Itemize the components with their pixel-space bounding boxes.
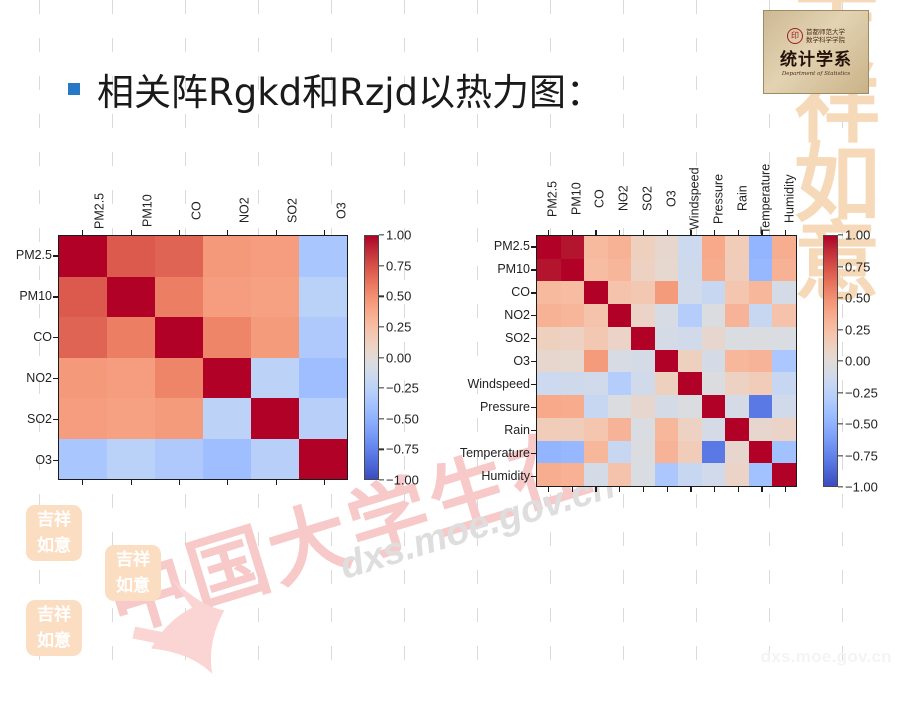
- x-tick-label: PM2.5: [536, 162, 560, 235]
- heatmap-cell: [608, 463, 632, 486]
- axis-tick: [227, 230, 228, 235]
- heatmap-cell: [772, 418, 796, 441]
- axis-tick: [531, 315, 536, 316]
- y-tick-label: PM10: [8, 276, 58, 317]
- colorbar-tick: [379, 357, 384, 358]
- colorbar-gradient: [823, 235, 838, 487]
- department-logo: 印 首都师范大学 数学科学学院 统计学系 Department of Stati…: [763, 10, 869, 94]
- colorbar: 1.000.750.500.250.00−0.25−0.50−0.75−1.00: [823, 235, 838, 487]
- heatmap-cell: [561, 395, 585, 418]
- heatmap-cell: [725, 327, 749, 350]
- heatmap-cell: [537, 259, 561, 282]
- heatmap-cell: [299, 398, 347, 439]
- heatmap-cell: [561, 304, 585, 327]
- heatmap-left-ticks: [53, 235, 58, 480]
- heatmap-cell: [561, 236, 585, 259]
- heatmap-cell: [749, 327, 773, 350]
- heatmap-cell: [155, 358, 203, 399]
- heatmap-cell: [107, 439, 155, 480]
- axis-tick: [548, 230, 549, 235]
- colorbar-tick: [838, 360, 843, 361]
- colorbar-tick-label: 0.50: [845, 291, 870, 306]
- heatmap-cell: [631, 327, 655, 350]
- heatmap-cell: [772, 259, 796, 282]
- colorbar-tick: [838, 455, 843, 456]
- heatmap-cell: [631, 350, 655, 373]
- heatmap-cell: [155, 398, 203, 439]
- heatmap-cell: [155, 236, 203, 277]
- heatmap-cell: [749, 418, 773, 441]
- colorbar-tick: [838, 392, 843, 393]
- colorbar-tick: [838, 266, 843, 267]
- heatmap-cell: [608, 236, 632, 259]
- heatmap-cell: [725, 372, 749, 395]
- heatmap-cell: [107, 317, 155, 358]
- heatmap-cell: [107, 236, 155, 277]
- heatmap-cell: [678, 395, 702, 418]
- colorbar-tick-label: 0.75: [386, 258, 411, 273]
- heatmap-cell: [655, 327, 679, 350]
- heatmap-cell: [299, 358, 347, 399]
- axis-tick: [53, 460, 58, 461]
- heatmap-cell: [631, 236, 655, 259]
- axis-tick: [531, 453, 536, 454]
- axis-tick: [690, 487, 691, 492]
- heatmap-cell: [608, 259, 632, 282]
- y-tick-label: Rain: [452, 418, 536, 441]
- axis-tick: [667, 487, 668, 492]
- heatmap-cell: [584, 259, 608, 282]
- heatmap-cell: [631, 281, 655, 304]
- axis-tick: [548, 487, 549, 492]
- heatmap-top-ticks: [536, 230, 797, 235]
- logo-department-name: 统计学系: [780, 45, 852, 70]
- axis-tick: [785, 230, 786, 235]
- heatmap-cell: [59, 236, 107, 277]
- heatmap-cell: [772, 281, 796, 304]
- colorbar-tick: [838, 423, 843, 424]
- heatmap-cell: [631, 304, 655, 327]
- heatmap-cell: [655, 418, 679, 441]
- heatmap-cell: [584, 281, 608, 304]
- heatmap-cell: [203, 277, 251, 318]
- colorbar-tick: [379, 296, 384, 297]
- colorbar-tick-label: 1.00: [386, 228, 411, 243]
- axis-tick: [179, 480, 180, 485]
- y-tick-label: CO: [8, 317, 58, 358]
- heatmap-cell: [702, 281, 726, 304]
- x-tick-label: CO: [583, 162, 607, 235]
- y-tick-label: PM2.5: [8, 235, 58, 276]
- axis-tick: [53, 255, 58, 256]
- colorbar-tick-label: −0.75: [386, 442, 419, 457]
- axis-tick: [324, 480, 325, 485]
- heatmap-cell: [772, 236, 796, 259]
- colorbar-tick: [379, 479, 384, 480]
- heatmap-cell: [537, 350, 561, 373]
- colorbar-tick-label: 1.00: [845, 228, 870, 243]
- axis-tick: [531, 407, 536, 408]
- heatmap-cell: [584, 395, 608, 418]
- axis-tick: [761, 230, 762, 235]
- heatmap-cell: [678, 281, 702, 304]
- heatmap-cell: [772, 350, 796, 373]
- heatmap-cell: [561, 372, 585, 395]
- heatmap-cell: [561, 281, 585, 304]
- heatmap-x-axis-labels: PM2.5PM10CONO2SO2O3: [58, 186, 348, 235]
- heatmap-cell: [749, 463, 773, 486]
- x-tick-label: Humidity: [773, 162, 797, 235]
- heatmap-cell: [537, 441, 561, 464]
- heatmap-cell: [299, 236, 347, 277]
- heatmap-cell: [59, 277, 107, 318]
- heatmap-cell: [59, 398, 107, 439]
- heatmap-cell: [608, 395, 632, 418]
- y-tick-label: NO2: [452, 304, 536, 327]
- heatmap-cell: [203, 439, 251, 480]
- heatmap-cell: [561, 259, 585, 282]
- heatmap-cell: [584, 350, 608, 373]
- heatmap-cell: [107, 398, 155, 439]
- heatmap-cell: [59, 358, 107, 399]
- heatmap-cell: [203, 236, 251, 277]
- y-tick-label: SO2: [452, 327, 536, 350]
- page-title: 相关阵Rgkd和Rzjd以热力图：: [97, 62, 603, 116]
- colorbar-tick-label: −0.25: [386, 381, 419, 396]
- heatmap-top-ticks: [58, 230, 348, 235]
- heatmap-cell: [631, 259, 655, 282]
- x-tick-label: NO2: [203, 186, 251, 235]
- colorbar-tick-label: 0.25: [845, 322, 870, 337]
- heatmap-bottom-ticks: [536, 487, 797, 493]
- heatmap-cell: [772, 395, 796, 418]
- slide-title-row: 相关阵Rgkd和Rzjd以热力图：: [68, 62, 603, 116]
- logo-header: 印 首都师范大学 数学科学学院: [787, 28, 845, 44]
- x-tick-label: Pressure: [702, 162, 726, 235]
- heatmap-cell: [725, 259, 749, 282]
- heatmap-cell: [702, 259, 726, 282]
- heatmap-cell: [702, 304, 726, 327]
- axis-tick: [531, 361, 536, 362]
- heatmap-cell: [655, 441, 679, 464]
- y-tick-label: O3: [8, 439, 58, 480]
- x-tick-label: Rain: [726, 162, 750, 235]
- axis-tick: [667, 230, 668, 235]
- y-tick-label: SO2: [8, 398, 58, 439]
- x-tick-label: O3: [655, 162, 679, 235]
- colorbar-tick-label: 0.75: [845, 259, 870, 274]
- heatmap-x-axis-labels: PM2.5PM10CONO2SO2O3WindspeedPressureRain…: [536, 162, 797, 235]
- x-tick-label: CO: [155, 186, 203, 235]
- colorbar-tick: [379, 418, 384, 419]
- heatmap-cell: [584, 372, 608, 395]
- colorbar-tick-label: 0.00: [845, 354, 870, 369]
- x-tick-label: PM10: [560, 162, 584, 235]
- heatmap-cell: [203, 317, 251, 358]
- axis-tick: [572, 487, 573, 492]
- axis-tick: [82, 230, 83, 235]
- axis-tick: [82, 480, 83, 485]
- axis-tick: [531, 476, 536, 477]
- heatmap-cell: [584, 327, 608, 350]
- heatmap-cell: [655, 304, 679, 327]
- x-tick-label: PM10: [106, 186, 154, 235]
- heatmap-cell: [749, 304, 773, 327]
- heatmap-cell: [702, 418, 726, 441]
- logo-english-name: Department of Statistics: [782, 71, 850, 77]
- heatmap-cell: [749, 441, 773, 464]
- colorbar-tick-label: −0.50: [845, 417, 878, 432]
- heatmap-cell: [678, 350, 702, 373]
- x-tick-label: PM2.5: [58, 186, 106, 235]
- axis-tick: [595, 230, 596, 235]
- heatmap-cell: [702, 395, 726, 418]
- x-tick-label: Temperature: [749, 162, 773, 235]
- colorbar: 1.000.750.500.250.00−0.25−0.50−0.75−1.00: [364, 235, 379, 480]
- axis-tick: [131, 480, 132, 485]
- x-tick-label: O3: [300, 186, 348, 235]
- y-tick-label: Pressure: [452, 395, 536, 418]
- axis-tick: [53, 337, 58, 338]
- axis-tick: [531, 338, 536, 339]
- heatmap-cell: [725, 236, 749, 259]
- heatmap-cell: [608, 418, 632, 441]
- heatmap-cell: [608, 304, 632, 327]
- heatmap-cell: [608, 441, 632, 464]
- heatmap-cell: [155, 277, 203, 318]
- colorbar-tick: [379, 265, 384, 266]
- axis-tick: [531, 269, 536, 270]
- heatmap-cell: [584, 463, 608, 486]
- colorbar-tick-label: −0.25: [845, 385, 878, 400]
- heatmap-cell: [251, 236, 299, 277]
- colorbar-gradient: [364, 235, 379, 480]
- heatmap-grid: [58, 235, 348, 480]
- axis-tick: [738, 487, 739, 492]
- heatmap-cell: [725, 441, 749, 464]
- colorbar-tick-label: −1.00: [845, 480, 878, 495]
- heatmap-cell: [655, 350, 679, 373]
- heatmap-cell: [537, 418, 561, 441]
- axis-tick: [276, 480, 277, 485]
- heatmap-cell: [725, 350, 749, 373]
- heatmap-cell: [702, 463, 726, 486]
- colorbar-tick-label: 0.25: [386, 319, 411, 334]
- axis-tick: [131, 230, 132, 235]
- heatmap-figure-rzjd: PM2.5PM10CONO2SO2O3WindspeedPressureRain…: [452, 162, 893, 501]
- heatmap-cell: [655, 372, 679, 395]
- axis-tick: [53, 419, 58, 420]
- heatmap-cell: [155, 317, 203, 358]
- heatmap-cell: [655, 259, 679, 282]
- heatmap-cell: [655, 463, 679, 486]
- heatmap-cell: [725, 463, 749, 486]
- bullet-icon: [68, 83, 80, 95]
- heatmap-cell: [772, 372, 796, 395]
- heatmap-cell: [678, 236, 702, 259]
- heatmap-cell: [772, 327, 796, 350]
- heatmap-cell: [631, 395, 655, 418]
- heatmap-cell: [655, 281, 679, 304]
- y-tick-label: Temperature: [452, 441, 536, 464]
- heatmap-cell: [537, 463, 561, 486]
- x-tick-label: NO2: [607, 162, 631, 235]
- y-tick-label: Humidity: [452, 464, 536, 487]
- colorbar-tick: [838, 234, 843, 235]
- axis-tick: [531, 292, 536, 293]
- axis-tick: [643, 487, 644, 492]
- heatmap-cell: [725, 395, 749, 418]
- heatmap-cell: [537, 327, 561, 350]
- axis-tick: [690, 230, 691, 235]
- heatmap-cell: [537, 395, 561, 418]
- heatmap-cell: [725, 418, 749, 441]
- heatmap-cell: [299, 317, 347, 358]
- heatmap-cell: [749, 236, 773, 259]
- heatmap-cell: [584, 236, 608, 259]
- heatmap-cell: [608, 372, 632, 395]
- colorbar-tick: [838, 486, 843, 487]
- heatmap-cell: [772, 463, 796, 486]
- axis-tick: [324, 230, 325, 235]
- logo-seal-icon: 印: [787, 28, 803, 44]
- heatmap-y-axis-labels: PM2.5PM10CONO2SO2O3: [8, 235, 58, 480]
- heatmap-cell: [584, 441, 608, 464]
- heatmap-cell: [561, 463, 585, 486]
- x-tick-label: SO2: [631, 162, 655, 235]
- colorbar-tick-label: 0.50: [386, 289, 411, 304]
- heatmap-cell: [107, 358, 155, 399]
- axis-tick: [276, 230, 277, 235]
- heatmap-cell: [702, 327, 726, 350]
- heatmap-cell: [561, 350, 585, 373]
- heatmap-left-ticks: [531, 235, 536, 487]
- y-tick-label: O3: [452, 350, 536, 373]
- axis-tick: [761, 487, 762, 492]
- logo-university-name: 首都师范大学 数学科学学院: [806, 28, 845, 44]
- heatmap-cell: [678, 327, 702, 350]
- axis-tick: [572, 230, 573, 235]
- axis-tick: [531, 430, 536, 431]
- heatmap-cell: [749, 395, 773, 418]
- x-tick-label: Windspeed: [678, 162, 702, 235]
- axis-tick: [738, 230, 739, 235]
- axis-tick: [619, 230, 620, 235]
- heatmap-cell: [655, 395, 679, 418]
- heatmap-cell: [749, 259, 773, 282]
- heatmap-cell: [749, 281, 773, 304]
- axis-tick: [53, 296, 58, 297]
- heatmap-cell: [251, 277, 299, 318]
- heatmap-cell: [584, 304, 608, 327]
- axis-tick: [619, 487, 620, 492]
- axis-tick: [785, 487, 786, 492]
- axis-tick: [595, 487, 596, 492]
- heatmap-cell: [678, 304, 702, 327]
- heatmap-cell: [561, 441, 585, 464]
- heatmap-cell: [251, 439, 299, 480]
- heatmap-cell: [584, 418, 608, 441]
- axis-tick: [643, 230, 644, 235]
- heatmap-cell: [251, 398, 299, 439]
- heatmap-cell: [537, 281, 561, 304]
- heatmap-bottom-ticks: [58, 480, 348, 486]
- heatmap-cell: [299, 439, 347, 480]
- axis-tick: [53, 378, 58, 379]
- heatmap-cell: [608, 327, 632, 350]
- heatmap-cell: [749, 350, 773, 373]
- heatmap-cell: [678, 259, 702, 282]
- colorbar-tick: [838, 329, 843, 330]
- heatmap-cell: [251, 358, 299, 399]
- heatmap-cell: [678, 418, 702, 441]
- heatmap-cell: [59, 317, 107, 358]
- heatmap-cell: [59, 439, 107, 480]
- heatmap-cell: [203, 358, 251, 399]
- x-tick-label: SO2: [251, 186, 299, 235]
- colorbar-tick: [838, 297, 843, 298]
- heatmap-cell: [251, 317, 299, 358]
- axis-tick: [714, 487, 715, 492]
- heatmap-cell: [702, 236, 726, 259]
- heatmap-cell: [702, 350, 726, 373]
- colorbar-tick: [379, 387, 384, 388]
- heatmap-cell: [678, 441, 702, 464]
- heatmap-cell: [561, 418, 585, 441]
- heatmap-cell: [608, 350, 632, 373]
- heatmap-figure-rgkd: PM2.5PM10CONO2SO2O3PM2.5PM10CONO2SO2O31.…: [8, 186, 434, 494]
- y-tick-label: CO: [452, 281, 536, 304]
- heatmap-y-axis-labels: PM2.5PM10CONO2SO2O3WindspeedPressureRain…: [452, 235, 536, 487]
- heatmap-cell: [702, 372, 726, 395]
- colorbar-tick-label: 0.00: [386, 350, 411, 365]
- heatmap-cell: [772, 441, 796, 464]
- y-tick-label: Windspeed: [452, 372, 536, 395]
- heatmap-cell: [749, 372, 773, 395]
- axis-tick: [531, 246, 536, 247]
- heatmap-cell: [608, 281, 632, 304]
- heatmap-cell: [725, 304, 749, 327]
- heatmap-cell: [107, 277, 155, 318]
- heatmap-cell: [702, 441, 726, 464]
- heatmap-cell: [631, 441, 655, 464]
- heatmap-grid: [536, 235, 797, 487]
- heatmap-cell: [772, 304, 796, 327]
- heatmap-cell: [203, 398, 251, 439]
- colorbar-tick: [379, 326, 384, 327]
- heatmap-cell: [537, 304, 561, 327]
- heatmap-cell: [537, 236, 561, 259]
- colorbar-tick-label: −0.50: [386, 411, 419, 426]
- colorbar-tick: [379, 449, 384, 450]
- heatmap-cell: [631, 372, 655, 395]
- heatmap-cell: [561, 327, 585, 350]
- heatmap-cell: [678, 372, 702, 395]
- axis-tick: [227, 480, 228, 485]
- y-tick-label: PM2.5: [452, 235, 536, 258]
- y-tick-label: PM10: [452, 258, 536, 281]
- heatmap-cell: [537, 372, 561, 395]
- y-tick-label: NO2: [8, 357, 58, 398]
- heatmap-cell: [725, 281, 749, 304]
- heatmap-cell: [631, 463, 655, 486]
- colorbar-tick: [379, 234, 384, 235]
- axis-tick: [179, 230, 180, 235]
- colorbar-tick-label: −1.00: [386, 473, 419, 488]
- axis-tick: [531, 384, 536, 385]
- heatmap-cell: [655, 236, 679, 259]
- heatmap-cell: [678, 463, 702, 486]
